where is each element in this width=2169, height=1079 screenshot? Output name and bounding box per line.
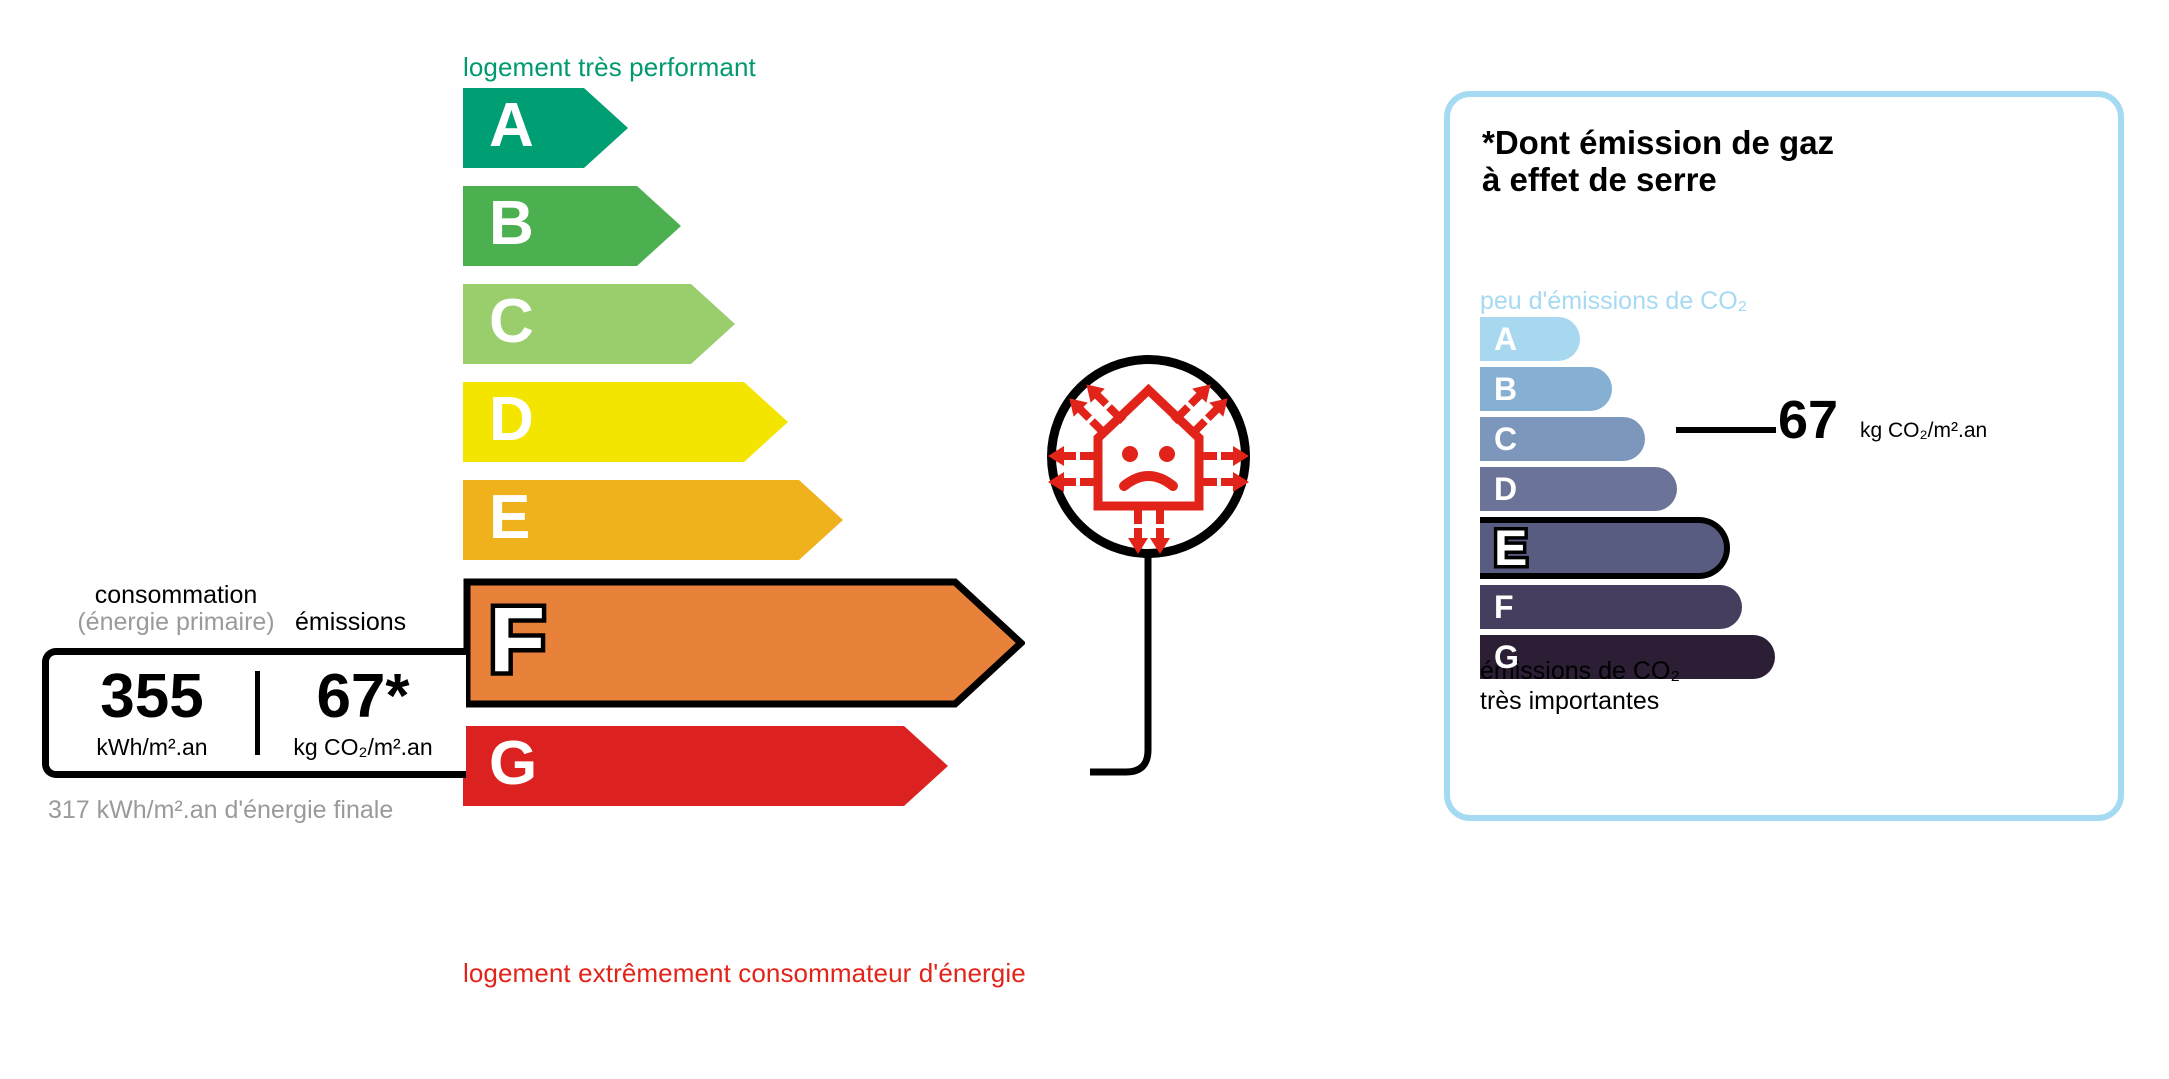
- energy-band-letter: G: [489, 733, 537, 795]
- consumption-value-cell: 355 kWh/m².an: [49, 655, 255, 771]
- ges-panel-title: *Dont émission de gaz à effet de serre: [1482, 125, 1834, 199]
- energy-band-d: D: [463, 382, 545, 462]
- ges-bar-letter: G: [1494, 639, 1519, 675]
- energy-band-letter: A: [489, 95, 534, 157]
- emissions-label: émissions: [295, 608, 406, 637]
- ges-bar-letter: A: [1494, 321, 1517, 357]
- ges-bar-letter: B: [1494, 371, 1517, 407]
- ges-bar-list: ABCDEFG: [1480, 317, 1527, 685]
- value-box: 355 kWh/m².an 67* kg CO₂/m².an: [42, 648, 466, 778]
- energy-band-g: G: [463, 726, 545, 806]
- energy-band-c: C: [463, 284, 545, 364]
- scale-top-caption: logement très performant: [463, 52, 756, 83]
- final-energy-note: 317 kWh/m².an d'énergie finale: [48, 796, 393, 826]
- ges-panel: *Dont émission de gaz à effet de serre p…: [1444, 91, 2124, 821]
- energy-band-e: E: [463, 480, 545, 560]
- ges-leader-line: [1676, 427, 1776, 433]
- energy-band-f: F: [463, 578, 545, 708]
- energy-performance-scale: logement très performant ABCDEFG consomm…: [0, 0, 1320, 1079]
- energy-band-letter: D: [489, 389, 534, 451]
- energy-band-arrow-f: [463, 578, 1025, 708]
- consumption-unit: kWh/m².an: [96, 734, 207, 761]
- ges-bar-c: C: [1480, 417, 1527, 461]
- dpe-label: logement très performant ABCDEFG consomm…: [0, 0, 2169, 1079]
- energy-band-letter: B: [489, 193, 534, 255]
- ges-bar-letter: C: [1494, 421, 1517, 457]
- energy-band-arrow-a: [463, 88, 628, 168]
- ges-bar-letter: E: [1494, 520, 1527, 576]
- consumption-label-sub: (énergie primaire): [66, 609, 286, 636]
- consumption-value: 355: [100, 666, 203, 728]
- ges-value-unit: kg CO₂/m².an: [1860, 419, 1987, 443]
- ges-bar-e: E: [1480, 517, 1527, 579]
- ges-bar-letter: D: [1494, 471, 1517, 507]
- emissions-unit: kg CO₂/m².an: [293, 734, 432, 761]
- consumption-label-main: consommation: [66, 582, 286, 609]
- ges-bar-f: F: [1480, 585, 1527, 629]
- energy-band-letter: C: [489, 291, 534, 353]
- ges-bar-b: B: [1480, 367, 1527, 411]
- ges-bar-d: D: [1480, 467, 1527, 511]
- ges-bar-fill: [1480, 585, 1742, 629]
- energy-band-list: ABCDEFG: [463, 88, 545, 824]
- emissions-value-cell: 67* kg CO₂/m².an: [260, 655, 466, 771]
- consumption-label: consommation (énergie primaire): [66, 582, 286, 635]
- energy-band-b: B: [463, 186, 545, 266]
- emissions-value: 67*: [316, 666, 409, 728]
- energy-band-a: A: [463, 88, 545, 168]
- ges-value: 67: [1778, 393, 1838, 447]
- scale-bottom-caption: logement extrêmement consommateur d'éner…: [463, 958, 1026, 989]
- energy-band-letter: F: [489, 594, 545, 686]
- sad-house-heat-loss-icon: [1046, 354, 1251, 559]
- ges-low-caption: peu d'émissions de CO₂: [1480, 287, 1747, 316]
- ges-bar-letter: F: [1494, 589, 1514, 625]
- energy-band-letter: E: [489, 487, 530, 549]
- ges-bar-a: A: [1480, 317, 1527, 361]
